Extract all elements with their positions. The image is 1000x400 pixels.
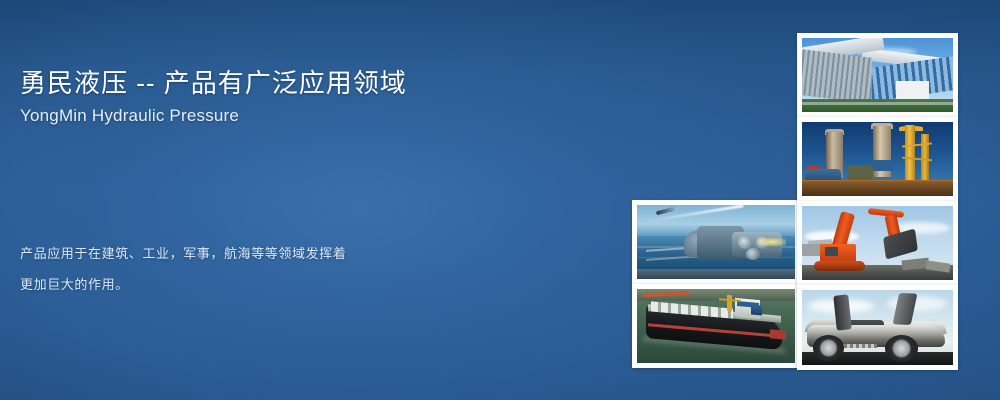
gallery-photo-military[interactable] — [632, 200, 800, 284]
promo-banner: 勇民液压 -- 产品有广泛应用领域 YongMin Hydraulic Pres… — [0, 0, 1000, 400]
description-line-2: 更加巨大的作用。 — [20, 269, 540, 300]
automotive-sports-car-image — [802, 290, 953, 365]
military-naval-missile-launch-image — [637, 205, 795, 279]
marine-cargo-ship-image — [637, 289, 795, 363]
construction-excavator-image — [802, 206, 953, 280]
description-line-1: 产品应用于在建筑、工业，军事，航海等等领域发挥着 — [20, 238, 540, 269]
gallery-photo-industry[interactable] — [797, 117, 958, 201]
gallery-photo-automotive[interactable] — [797, 285, 958, 370]
gallery-photo-excavator[interactable] — [797, 201, 958, 285]
gallery-photo-ship[interactable] — [632, 284, 800, 368]
headline-title-cn: 勇民液压 -- 产品有广泛应用领域 — [20, 66, 580, 100]
headline-block: 勇民液压 -- 产品有广泛应用领域 YongMin Hydraulic Pres… — [20, 66, 580, 127]
industry-refinery-plant-image — [802, 122, 953, 196]
gallery-photo-architecture[interactable] — [797, 33, 958, 117]
headline-title-en: YongMin Hydraulic Pressure — [20, 105, 580, 127]
description-block: 产品应用于在建筑、工业，军事，航海等等领域发挥着 更加巨大的作用。 — [20, 238, 540, 300]
architecture-convention-center-image — [802, 38, 953, 112]
